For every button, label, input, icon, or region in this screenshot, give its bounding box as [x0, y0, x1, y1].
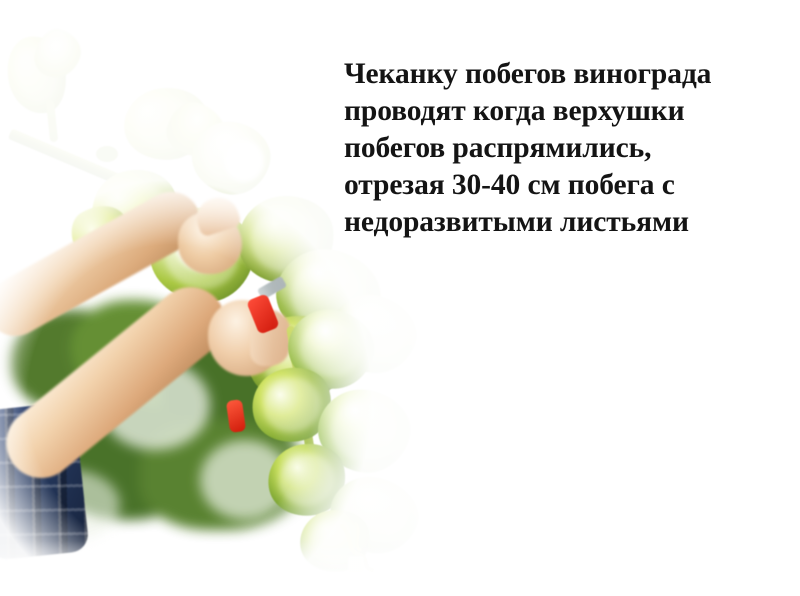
- caption-line-4: отрезая 30-40 см побега с: [344, 167, 764, 204]
- shoot-cut-tip: [348, 556, 364, 572]
- caption-line-2: проводят когда верхушки: [344, 93, 764, 130]
- caption-line-5: недоразвитыми листьями: [344, 204, 764, 241]
- caption-text-block: Чеканку побегов винограда проводят когда…: [344, 56, 764, 241]
- caption-line-3: побегов распрямились,: [344, 130, 764, 167]
- cane-node: [96, 146, 118, 162]
- caption-line-1: Чеканку побегов винограда: [344, 56, 764, 93]
- slide-canvas: Чеканку побегов винограда проводят когда…: [0, 0, 800, 596]
- leaf-mid-right-notch: [224, 140, 264, 182]
